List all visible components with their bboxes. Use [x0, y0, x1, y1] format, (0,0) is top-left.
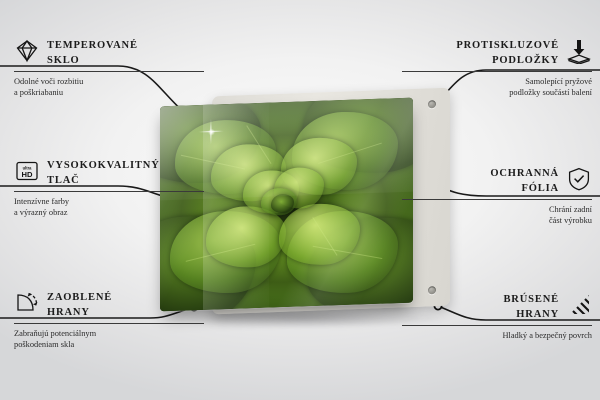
feature-description: Zabraňujú potenciálnym poškodeniam skla	[14, 328, 204, 350]
divider	[402, 325, 592, 326]
shield-check-icon	[566, 166, 592, 192]
divider	[402, 71, 592, 72]
feature-protective-foil: OCHRANNÁ FÓLIA Chrání zadní část výrobku	[402, 166, 592, 226]
feature-description: Hladký a bezpečný povrch	[402, 330, 592, 341]
feature-rounded-edges: ZAOBLENÉ HRANY Zabraňujú potenciálnym po…	[14, 290, 204, 350]
feature-description: Odolné voči rozbitiu a poškriabaniu	[14, 76, 204, 98]
ultra-hd-icon: ultra HD	[14, 158, 40, 184]
feature-title: ZAOBLENÉ HRANY	[47, 290, 112, 320]
hatched-triangle-icon	[566, 292, 592, 318]
feature-description: Chrání zadní část výrobku	[402, 204, 592, 226]
rounded-corner-icon	[14, 290, 40, 316]
feature-title: TEMPEROVANÉ SKLO	[47, 38, 138, 68]
feature-description: Samolepící pryžové podložky součástí bal…	[402, 76, 592, 98]
feature-description: Intenzívne farby a výrazný obraz	[14, 196, 204, 218]
divider	[14, 323, 204, 324]
feature-title: PROTISKLUZOVÉ PODLOŽKY	[456, 38, 559, 68]
feature-ground-edges: BRÚSENÉ HRANY Hladký a bezpečný povrch	[402, 292, 592, 341]
feature-title: BRÚSENÉ HRANY	[503, 292, 559, 322]
divider	[402, 199, 592, 200]
infographic-stage: TEMPEROVANÉ SKLO Odolné voči rozbitiu a …	[0, 0, 600, 400]
feature-anti-slip-pads: PROTISKLUZOVÉ PODLOŽKY Samolepící pryžov…	[402, 38, 592, 98]
diamond-icon	[14, 38, 40, 64]
feature-title: VYSOKOKVALITNÝ TLAČ	[47, 158, 160, 188]
mounting-hole	[428, 100, 436, 108]
feature-title: OCHRANNÁ FÓLIA	[490, 166, 559, 196]
divider	[14, 191, 204, 192]
divider	[14, 71, 204, 72]
feature-tempered-glass: TEMPEROVANÉ SKLO Odolné voči rozbitiu a …	[14, 38, 204, 98]
svg-text:HD: HD	[22, 170, 33, 179]
pad-arrow-icon	[566, 38, 592, 64]
feature-high-quality-print: ultra HD VYSOKOKVALITNÝ TLAČ Intenzívne …	[14, 158, 204, 218]
